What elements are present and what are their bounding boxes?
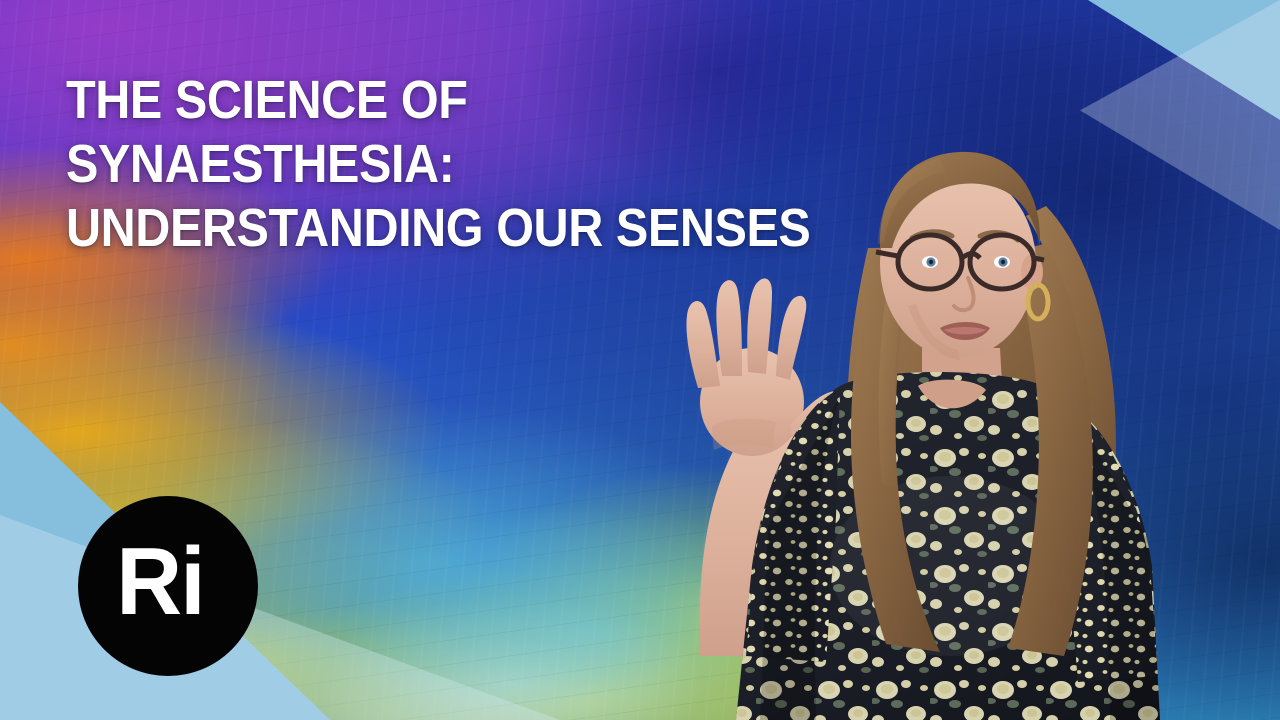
royal-institution-logo: Ri bbox=[78, 496, 258, 676]
title-block: THE SCIENCE OF SYNAESTHESIA: UNDERSTANDI… bbox=[66, 68, 896, 260]
logo-text: Ri bbox=[116, 534, 203, 630]
title-line-3: UNDERSTANDING OUR SENSES bbox=[66, 196, 813, 260]
title-line-1: THE SCIENCE OF bbox=[66, 68, 813, 132]
video-thumbnail: THE SCIENCE OF SYNAESTHESIA: UNDERSTANDI… bbox=[0, 0, 1280, 720]
title-line-2: SYNAESTHESIA: bbox=[66, 132, 813, 196]
